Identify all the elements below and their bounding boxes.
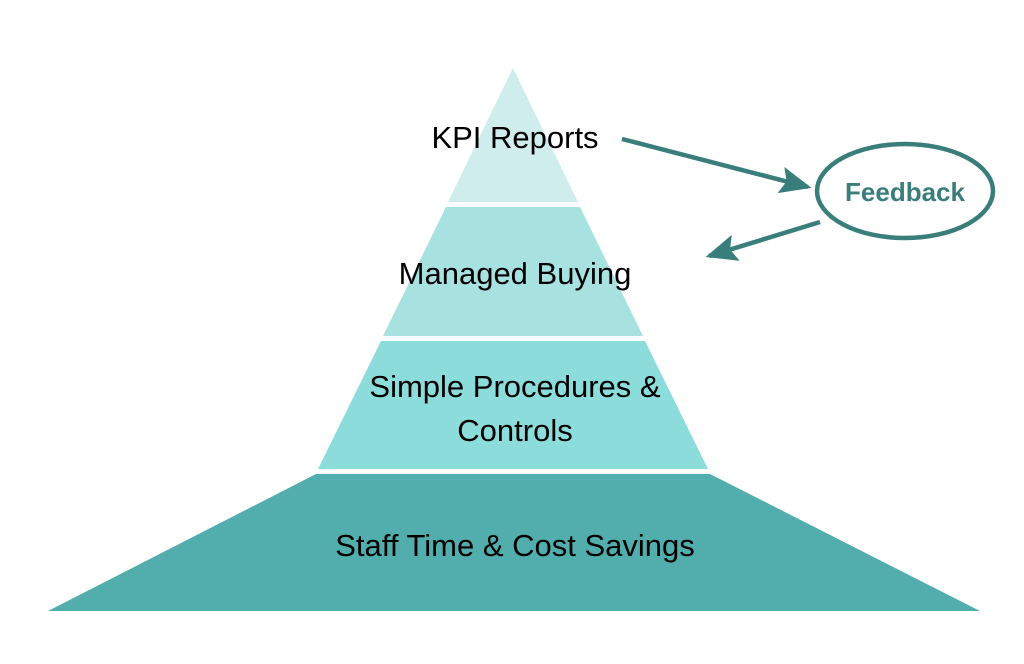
pyramid-tier-4-label: Staff Time & Cost Savings xyxy=(335,528,695,563)
feedback-to-managed-buying-arrow[interactable] xyxy=(709,222,820,256)
pyramid-tier-3-label-line-1: Simple Procedures & xyxy=(369,369,661,404)
feedback-label: Feedback xyxy=(845,177,965,207)
pyramid-tier-3-label-line-2: Controls xyxy=(457,413,572,448)
pyramid-tier-2-label: Managed Buying xyxy=(399,256,632,291)
diagram-canvas: KPI Reports Managed Buying Simple Proced… xyxy=(0,0,1024,664)
pyramid-diagram: KPI Reports Managed Buying Simple Proced… xyxy=(0,0,1024,664)
feedback-node[interactable]: Feedback xyxy=(817,144,993,238)
kpi-to-feedback-arrow[interactable] xyxy=(622,139,808,187)
pyramid-tier-1-label: KPI Reports xyxy=(431,120,598,155)
pyramid-tier-3-shape[interactable] xyxy=(318,341,708,469)
